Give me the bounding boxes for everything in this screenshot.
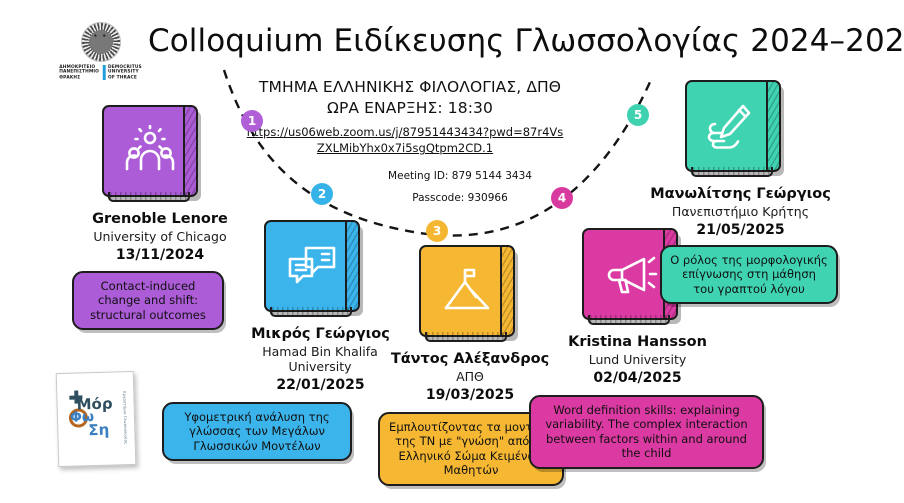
logo-gr-3: ΘΡΑΚΗΣ [60,75,100,80]
timeline-node-3: 3 [426,220,448,242]
speaker-4-topic: Word definition skills: explaining varia… [529,395,764,469]
audience-presentation-icon [123,125,177,177]
speaker-2-affiliation: Hamad Bin Khalifa University [255,344,385,374]
subtitle: ΤΜΗΜΑ ΕΛΛΗΝΙΚΗΣ ΦΙΛΟΛΟΓΙΑΣ, ΔΠΘ ΩΡΑ ΕΝΑΡ… [200,77,620,118]
speaker-1-affiliation: University of Chicago [70,229,250,244]
speaker-5-date: 21/05/2025 [648,222,833,238]
page-title: Colloquium Ειδίκευσης Γλωσσολογίας 2024–… [148,24,848,59]
department-line: ΤΜΗΜΑ ΕΛΛΗΝΙΚΗΣ ΦΙΛΟΛΟΓΙΑΣ, ΔΠΘ [200,77,620,98]
node-label: 2 [318,187,326,201]
logo-divider [102,65,105,80]
speaker-1-name: Grenoble Lenore [70,211,250,227]
speaker-4-name: Kristina Hansson [545,334,730,350]
speech-bubbles-icon [284,241,340,291]
speaker-block-5: Μανωλίτσης Γεώργιος Πανεπιστήμιο Κρήτης … [648,80,833,304]
speaker-2-topic: Υφομετρική ανάλυση της γλώσσας των Μεγάλ… [162,402,352,461]
node-label: 5 [634,108,642,122]
speaker-3-icon-card [419,245,515,337]
morfosi-lab-poster: Μόρ Φω Ση Εργαστήριο Γλωσσολογίας [56,371,137,467]
mountain-flag-icon [439,266,495,316]
university-logo: ΔΗΜΟΚΡΙΤΕΙΟ ΠΑΝΕΠΙΣΤΗΜΙΟ ΘΡΑΚΗΣ DEMOCRIT… [68,22,134,84]
speaker-1-icon-card [102,105,198,197]
node-label: 3 [433,224,441,238]
speaker-5-icon-card [685,80,781,172]
poster-canvas: ΔΗΜΟΚΡΙΤΕΙΟ ΠΑΝΕΠΙΣΤΗΜΙΟ ΘΡΑΚΗΣ DEMOCRIT… [0,0,904,503]
speaker-5-topic: Ο ρόλος της μορφολογικής επίγνωσης στη μ… [660,245,838,304]
start-time-line: ΩΡΑ ΕΝΑΡΞΗΣ: 18:30 [200,98,620,119]
logo-en-3: OF THRACE [108,75,142,80]
university-logo-text: ΔΗΜΟΚΡΙΤΕΙΟ ΠΑΝΕΠΙΣΤΗΜΙΟ ΘΡΑΚΗΣ DEMOCRIT… [60,65,143,80]
speaker-block-1: Grenoble Lenore University of Chicago 13… [70,105,250,330]
speaker-1-topic: Contact-induced change and shift: struct… [72,271,224,330]
speaker-4-affiliation: Lund University [545,352,730,367]
democritus-bust-icon [81,22,121,62]
timeline-node-4: 4 [551,187,573,209]
megaphone-icon [602,250,658,298]
speaker-3-name: Τάντος Αλέξανδρος [381,351,559,367]
speaker-1-date: 13/11/2024 [70,247,250,263]
zoom-meeting-link[interactable]: https://us06web.zoom.us/j/87951443434?pw… [246,124,564,157]
speaker-5-name: Μανωλίτσης Γεώργιος [648,186,833,202]
poster-vertical-text: Εργαστήριο Γλωσσολογίας [122,391,127,444]
timeline-node-5: 5 [627,104,649,126]
hand-writing-pencil-icon [706,101,760,151]
node-label: 4 [558,191,566,205]
speaker-5-affiliation: Πανεπιστήμιο Κρήτης [648,204,833,219]
meeting-id: Meeting ID: 879 5144 3434 [300,170,620,182]
poster-word-3: Ση [88,421,109,440]
speaker-4-date: 02/04/2025 [545,370,730,386]
speaker-2-icon-card [264,220,360,312]
timeline-node-2: 2 [311,183,333,205]
speaker-3-affiliation: ΑΠΘ [381,369,559,384]
